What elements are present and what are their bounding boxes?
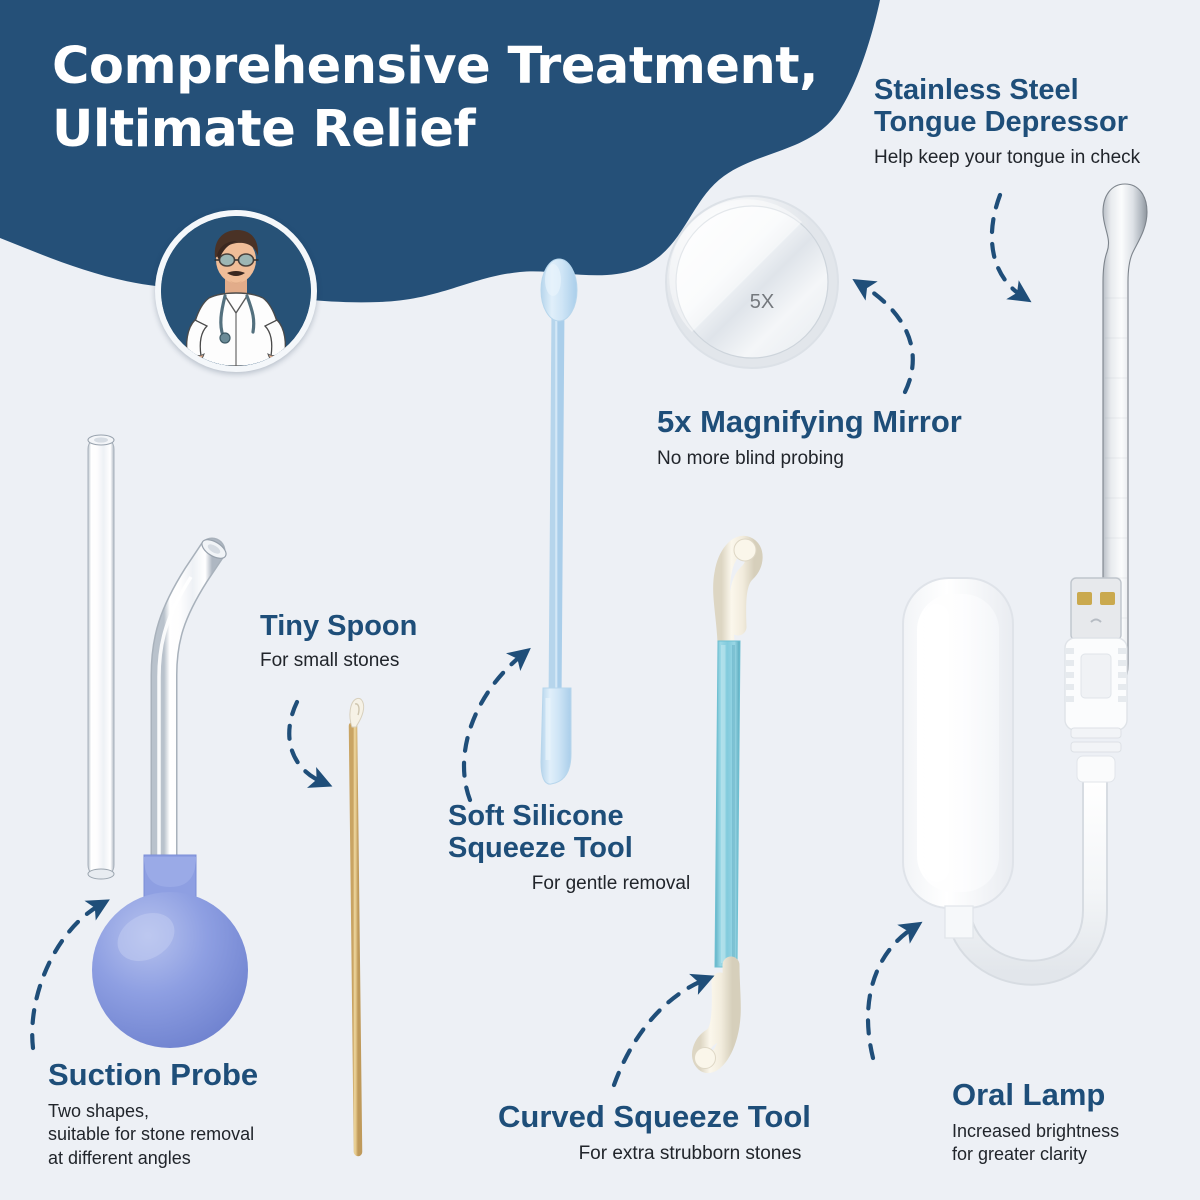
label-curved-squeeze-tool: Curved Squeeze Tool For extra strubborn … [498, 1100, 878, 1166]
label-subtitle-curved-squeeze: For extra strubborn stones [498, 1142, 878, 1166]
label-title-tiny-spoon: Tiny Spoon [260, 610, 540, 642]
connector-arrows [0, 0, 1200, 1200]
label-suction-probe: Suction Probe Two shapes, suitable for s… [48, 1058, 378, 1171]
label-subtitle-tongue-depressor: Help keep your tongue in check [874, 146, 1194, 170]
label-title-suction-probe: Suction Probe [48, 1058, 378, 1093]
label-subtitle-oral-lamp: Increased brightness for greater clarity [952, 1120, 1200, 1167]
label-subtitle-soft-silicone: For gentle removal [448, 872, 768, 896]
arrow-tiny-spoon [289, 702, 322, 782]
label-subtitle-tiny-spoon: For small stones [260, 649, 540, 673]
label-title-magnifying-mirror: 5x Magnifying Mirror [657, 405, 1057, 440]
label-subtitle-suction-probe: Two shapes, suitable for stone removal a… [48, 1100, 378, 1171]
label-magnifying-mirror: 5x Magnifying Mirror No more blind probi… [657, 405, 1057, 471]
label-title-soft-silicone: Soft Silicone Squeeze Tool [448, 800, 768, 865]
label-subtitle-magnifying-mirror: No more blind probing [657, 447, 1057, 471]
label-tiny-spoon: Tiny Spoon For small stones [260, 610, 540, 674]
label-oral-lamp: Oral Lamp Increased brightness for great… [952, 1078, 1200, 1167]
arrow-tongue-depressor [992, 195, 1022, 296]
arrow-magnifying-mirror [862, 285, 913, 392]
label-title-oral-lamp: Oral Lamp [952, 1078, 1200, 1113]
label-soft-silicone-squeeze-tool: Soft Silicone Squeeze Tool For gentle re… [448, 800, 768, 896]
label-title-tongue-depressor: Stainless Steel Tongue Depressor [874, 74, 1194, 139]
arrow-soft-silicone [464, 655, 522, 800]
arrow-curved-squeeze [614, 980, 704, 1085]
label-tongue-depressor: Stainless Steel Tongue Depressor Help ke… [874, 74, 1194, 170]
label-title-curved-squeeze: Curved Squeeze Tool [498, 1100, 878, 1135]
arrow-suction-probe [32, 905, 100, 1048]
infographic-canvas: Comprehensive Treatment, Ultimate Relief [0, 0, 1200, 1200]
arrow-oral-lamp [868, 928, 913, 1058]
